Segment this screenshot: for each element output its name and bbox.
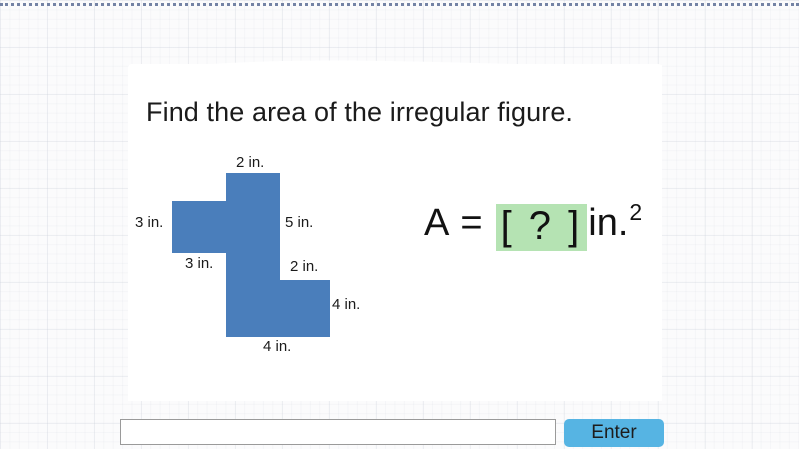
equals-sign: = bbox=[460, 204, 482, 242]
answer-exponent: 2 bbox=[629, 201, 642, 224]
dimension-label-bottom: 4 in. bbox=[263, 338, 291, 355]
dimension-label-left-side: 3 in. bbox=[135, 214, 163, 231]
answer-unit: in. bbox=[588, 204, 628, 242]
top-dotted-divider bbox=[0, 3, 799, 6]
answer-input[interactable] bbox=[120, 419, 556, 445]
dimension-label-right-upper: 5 in. bbox=[285, 214, 313, 231]
figure-polygon-svg bbox=[130, 150, 380, 365]
answer-placeholder-box[interactable]: [ ? ] bbox=[496, 204, 588, 251]
dimension-label-middle-step: 2 in. bbox=[290, 258, 318, 275]
dimension-label-top: 2 in. bbox=[236, 154, 264, 171]
dimension-label-right-lower: 4 in. bbox=[332, 296, 360, 313]
irregular-figure: 2 in. 3 in. 5 in. 3 in. 2 in. 4 in. 4 in… bbox=[130, 150, 380, 365]
screen-root: Find the area of the irregular figure. 2… bbox=[0, 0, 799, 449]
page-title: Find the area of the irregular figure. bbox=[146, 97, 573, 128]
answer-bar: Enter bbox=[120, 419, 666, 449]
dimension-label-left-lower: 3 in. bbox=[185, 255, 213, 272]
answer-expression: A = [ ? ] in. 2 bbox=[424, 204, 642, 251]
answer-variable: A bbox=[424, 204, 449, 242]
enter-button[interactable]: Enter bbox=[564, 419, 664, 447]
